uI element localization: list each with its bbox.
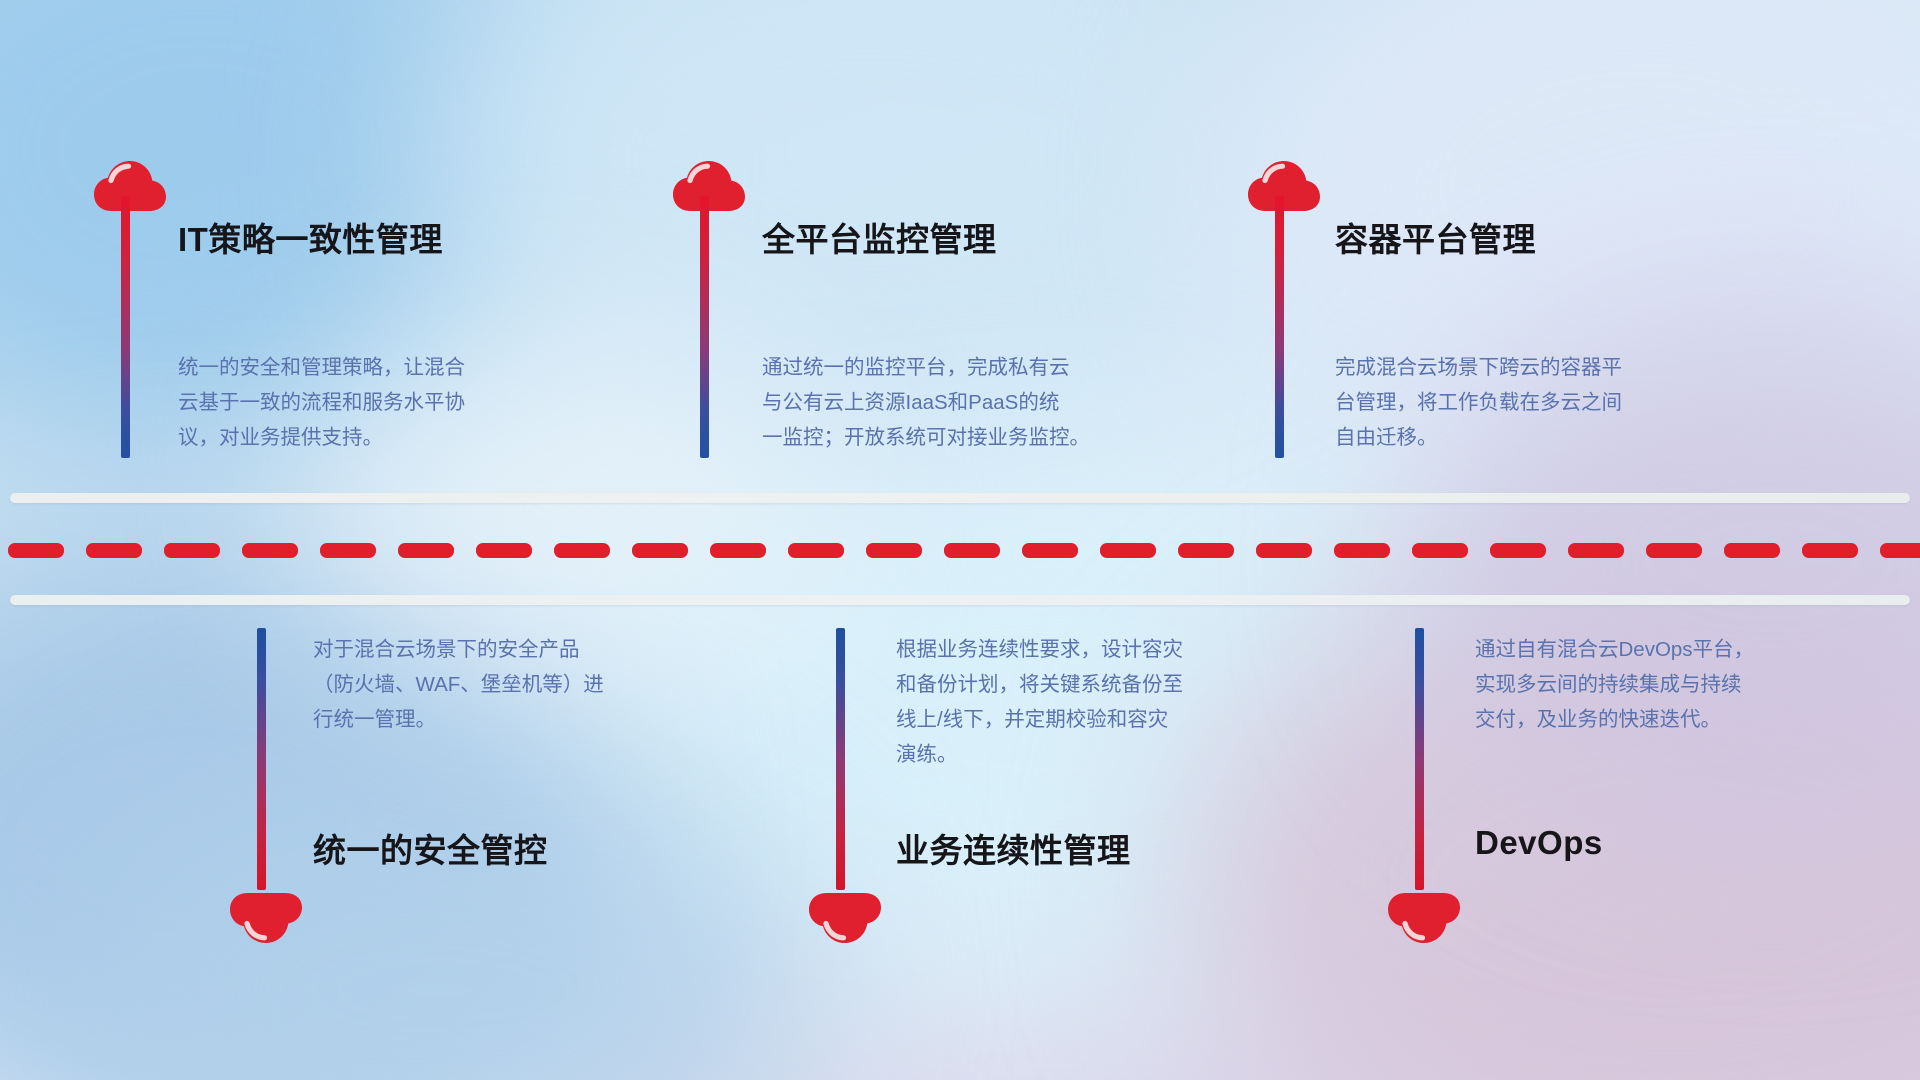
cloud-icon-flipped xyxy=(229,890,303,946)
connector-stem xyxy=(1275,196,1284,458)
top-card-body-3: 完成混合云场景下跨云的容器平 台管理，将工作负载在多云之间 自由迁移。 xyxy=(1335,350,1707,455)
road-dashed-centerline xyxy=(0,542,1920,558)
road-dash xyxy=(86,543,142,558)
road-dash xyxy=(1334,543,1390,558)
connector-stem xyxy=(1415,628,1424,890)
bottom-card-body-3: 通过自有混合云DevOps平台， 实现多云间的持续集成与持续 交付，及业务的快速… xyxy=(1475,632,1847,737)
bottom-card-body-1: 对于混合云场景下的安全产品 （防火墙、WAF、堡垒机等）进 行统一管理。 xyxy=(313,632,685,737)
road-dash xyxy=(710,543,766,558)
top-card-body-1: 统一的安全和管理策略，让混合 云基于一致的流程和服务水平协 议，对业务提供支持。 xyxy=(178,350,550,455)
top-card-title-1: IT策略一致性管理 xyxy=(178,213,443,261)
road-dash xyxy=(476,543,532,558)
road-dash xyxy=(1802,543,1858,558)
road-dash xyxy=(632,543,688,558)
connector-stem xyxy=(121,196,130,458)
road-dash xyxy=(1100,543,1156,558)
road-dash xyxy=(1724,543,1780,558)
bottom-card-body-2: 根据业务连续性要求，设计容灾 和备份计划，将关键系统备份至 线上/线下，并定期校… xyxy=(896,632,1268,772)
top-card-body-2: 通过统一的监控平台，完成私有云 与公有云上资源IaaS和PaaS的统 一监控；开… xyxy=(762,350,1154,455)
road-dash xyxy=(8,543,64,558)
road-line-top xyxy=(10,493,1910,503)
infographic-canvas: IT策略一致性管理 统一的安全和管理策略，让混合 云基于一致的流程和服务水平协 … xyxy=(0,0,1920,1080)
road-dash xyxy=(1646,543,1702,558)
top-card-title-3: 容器平台管理 xyxy=(1335,213,1536,261)
road-dash xyxy=(1880,543,1920,558)
bottom-card-title-2: 业务连续性管理 xyxy=(896,824,1131,872)
road-dash xyxy=(242,543,298,558)
cloud-icon xyxy=(93,158,167,214)
road-line-bottom xyxy=(10,595,1910,605)
road-dash xyxy=(1256,543,1312,558)
road-dash xyxy=(1022,543,1078,558)
road-dash xyxy=(866,543,922,558)
road-dash xyxy=(1568,543,1624,558)
top-card-title-2: 全平台监控管理 xyxy=(762,213,997,261)
connector-stem xyxy=(257,628,266,890)
road-dash xyxy=(164,543,220,558)
road-dash xyxy=(1178,543,1234,558)
bottom-card-title-3: DevOps xyxy=(1475,824,1603,862)
road-dash xyxy=(1490,543,1546,558)
cloud-icon-flipped xyxy=(1387,890,1461,946)
connector-stem xyxy=(700,196,709,458)
road-dash xyxy=(554,543,610,558)
cloud-icon-flipped xyxy=(808,890,882,946)
connector-stem xyxy=(836,628,845,890)
road-dash xyxy=(398,543,454,558)
cloud-icon xyxy=(1247,158,1321,214)
road-dash xyxy=(320,543,376,558)
road-dash xyxy=(1412,543,1468,558)
cloud-icon xyxy=(672,158,746,214)
bottom-card-title-1: 统一的安全管控 xyxy=(313,824,548,872)
road-dash xyxy=(788,543,844,558)
road-dash xyxy=(944,543,1000,558)
